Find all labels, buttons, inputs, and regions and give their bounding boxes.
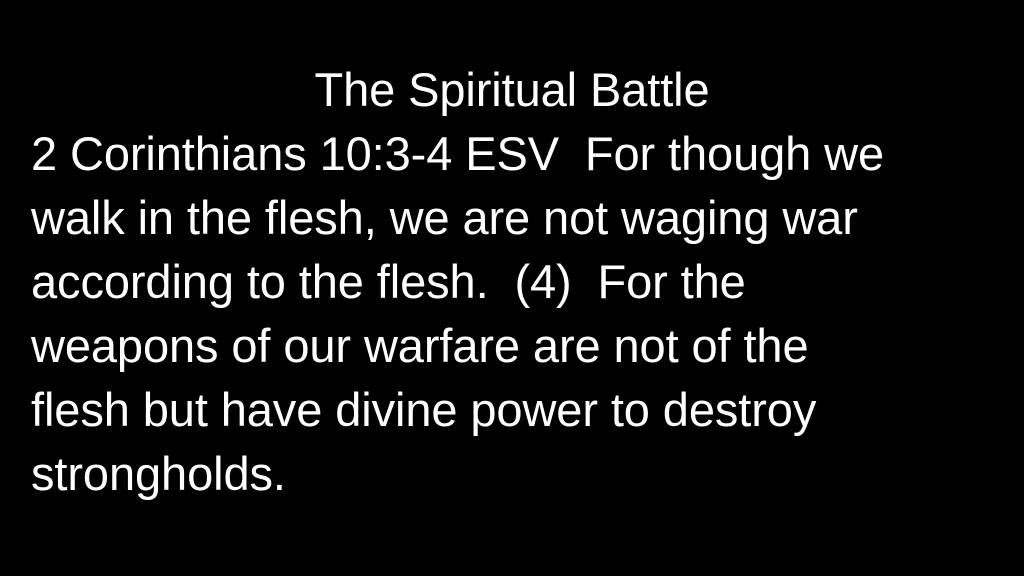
scripture-line: strongholds.	[31, 442, 1024, 506]
scripture-line: flesh but have divine power to destroy	[31, 378, 1024, 442]
presentation-slide: The Spiritual Battle 2 Corinthians 10:3-…	[0, 0, 1024, 576]
scripture-body: 2 Corinthians 10:3-4 ESV For though we w…	[0, 122, 1024, 506]
scripture-line: walk in the flesh, we are not waging war	[31, 186, 1024, 250]
page-title: The Spiritual Battle	[0, 0, 1024, 122]
scripture-line: weapons of our warfare are not of the	[31, 314, 1024, 378]
scripture-line: according to the flesh. (4) For the	[31, 250, 1024, 314]
scripture-line: 2 Corinthians 10:3-4 ESV For though we	[31, 122, 1024, 186]
slide-text-block: The Spiritual Battle 2 Corinthians 10:3-…	[0, 0, 1024, 506]
